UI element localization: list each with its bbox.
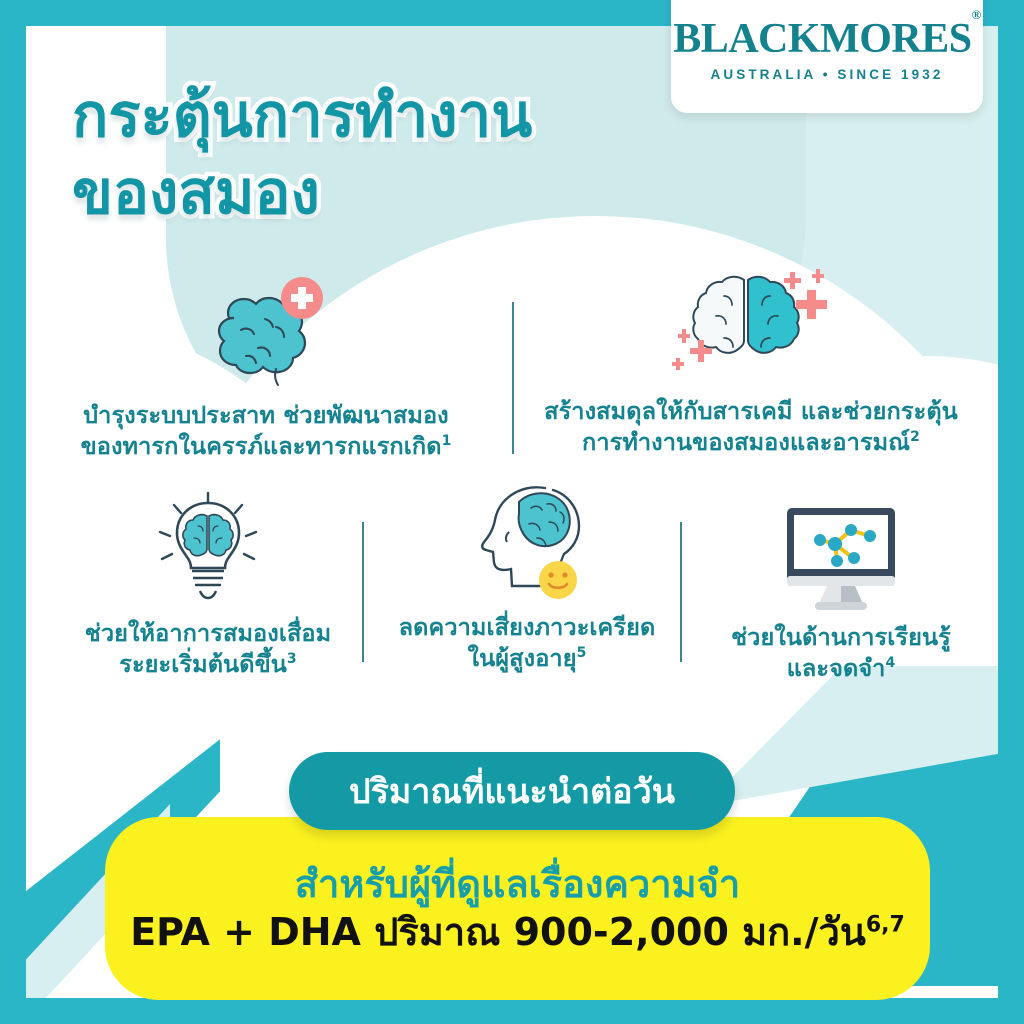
benefit-text-3: ช่วยให้อาการสมองเสื่อม ระยะเริ่มต้นดีขึ้… [48,618,368,681]
benefit-line1: ช่วยในด้านการเรียนรู้ [688,622,994,653]
page-title-line2: ของสมอง [72,155,672,232]
benefit-line2: ของทารกในครรภ์และทารกแรกเกิด [81,432,442,460]
benefit-ref: 3 [287,651,297,667]
registered-mark: ® [972,7,981,22]
benefit-item-2: สร้างสมดุลให้กับสารเคมี และช่วยกระตุ้น ก… [518,266,984,459]
benefit-text-1: บำรุงระบบประสาท ช่วยพัฒนาสมอง ของทารกในค… [40,400,492,463]
page-title: กระตุ้นการทำงาน ของสมอง [72,78,672,232]
benefit-item-3: ช่วยให้อาการสมองเสื่อม ระยะเริ่มต้นดีขึ้… [48,488,368,681]
benefit-item-1: บำรุงระบบประสาท ช่วยพัฒนาสมอง ของทารกในค… [40,270,492,463]
monitor-network-icon [688,492,994,612]
page-title-line1: กระตุ้นการทำงาน [72,78,672,155]
dosage-card: สำหรับผู้ที่ดูแลเรื่องความจำ EPA + DHA ป… [105,817,930,1000]
benefit-item-4: ลดความเสี่ยงภาวะเครียด ในผู้สูงอายุ5 [372,482,682,675]
divider-top [512,302,514,454]
benefit-line2: การทำงานของสมองและอารมณ์ [582,428,910,456]
split-brain-with-sparkles-icon [518,266,984,386]
benefit-line1: ช่วยให้อาการสมองเสื่อม [48,618,368,649]
benefit-line1: ลดความเสี่ยงภาวะเครียด [372,612,682,643]
dosage-amount: EPA + DHA ปริมาณ 900-2,000 มก./วัน6,7 [130,912,905,954]
benefit-line2: และจดจำ [787,654,886,682]
benefit-text-5: ช่วยในด้านการเรียนรู้ และจดจำ4 [688,622,994,685]
brand-logo: BLACKMORES® AUSTRALIA • SINCE 1932 [671,0,983,113]
benefit-ref: 5 [577,645,587,661]
brain-with-medical-cross-icon [40,270,492,390]
lightbulb-brain-icon [48,488,368,608]
benefit-line2: ในผู้สูงอายุ [468,644,577,672]
benefit-line1: สร้างสมดุลให้กับสารเคมี และช่วยกระตุ้น [518,396,984,427]
brand-name: BLACKMORES® [673,18,981,60]
dosage-amount-text: EPA + DHA ปริมาณ 900-2,000 มก./วัน [130,910,866,954]
dosage-badge: ปริมาณที่แนะนำต่อวัน [289,752,735,830]
benefit-ref: 1 [442,433,452,449]
benefits-grid: บำรุงระบบประสาท ช่วยพัฒนาสมอง ของทารกในค… [40,270,984,700]
brand-tagline: AUSTRALIA • SINCE 1932 [711,67,944,82]
benefit-ref: 2 [910,429,920,445]
benefit-text-4: ลดความเสี่ยงภาวะเครียด ในผู้สูงอายุ5 [372,612,682,675]
benefit-ref: 4 [885,655,895,671]
dosage-badge-label: ปริมาณที่แนะนำต่อวัน [349,764,675,818]
dosage-amount-ref: 6,7 [866,912,905,937]
head-profile-smiley-icon [372,482,682,602]
benefit-line2: ระยะเริ่มต้นดีขึ้น [119,650,287,678]
benefit-line1: บำรุงระบบประสาท ช่วยพัฒนาสมอง [40,400,492,431]
benefit-text-2: สร้างสมดุลให้กับสารเคมี และช่วยกระตุ้น ก… [518,396,984,459]
infographic-poster: BLACKMORES® AUSTRALIA • SINCE 1932 กระตุ… [0,0,1024,1024]
dosage-audience: สำหรับผู้ที่ดูแลเรื่องความจำ [295,864,740,906]
benefit-item-5: ช่วยในด้านการเรียนรู้ และจดจำ4 [688,492,994,685]
brand-name-text: BLACKMORES [673,16,971,62]
